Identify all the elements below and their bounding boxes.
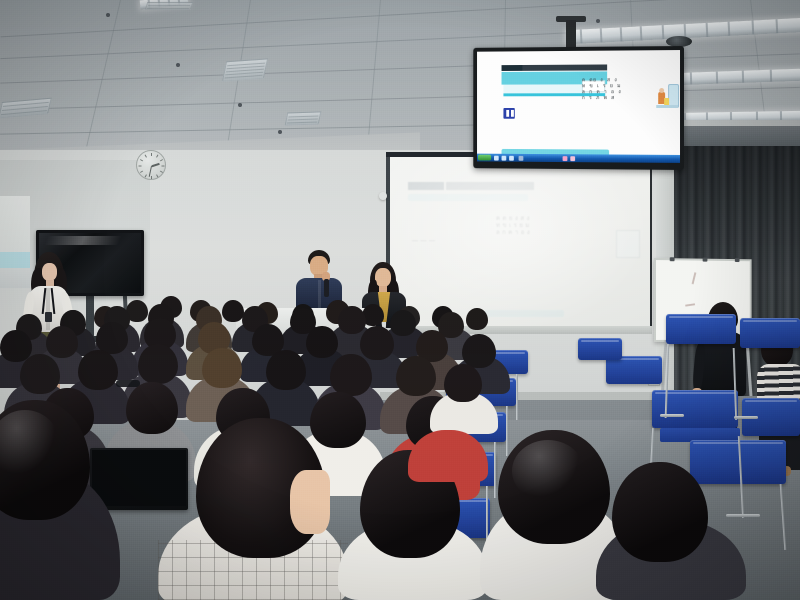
chair[interactable] bbox=[578, 338, 622, 360]
audience-head bbox=[202, 348, 242, 388]
lanyard-badge bbox=[45, 312, 52, 322]
microphone bbox=[324, 279, 329, 297]
illustration bbox=[656, 84, 680, 114]
audience-head bbox=[126, 382, 178, 434]
photo-canvas: — — — ค ด ย ง ส ง ท ข เ ร ย ม ล ก ค า อ … bbox=[0, 0, 800, 600]
air-diffuser-grille bbox=[0, 98, 52, 119]
audience-head bbox=[462, 334, 496, 368]
air-diffuser-grille bbox=[285, 111, 322, 125]
audience-head bbox=[330, 354, 372, 396]
windows-taskbar[interactable] bbox=[477, 154, 680, 163]
sprinkler-head bbox=[238, 103, 242, 107]
laptop-screen bbox=[92, 450, 186, 506]
audience-head bbox=[612, 462, 708, 562]
television-screen[interactable]: ค ดย ง ส ง ท ข เ ร ย ม ล ก ค า อ ง ก ร ภ… bbox=[477, 50, 680, 163]
projection-screen: — — — ค ด ย ง ส ง ท ข เ ร ย ม ล ก ค า อ … bbox=[386, 152, 652, 334]
chair[interactable] bbox=[606, 356, 662, 384]
wall-mounted-television[interactable]: ค ดย ง ส ง ท ข เ ร ย ม ล ก ค า อ ง ก ร ภ… bbox=[473, 46, 684, 170]
sprinkler-head bbox=[176, 63, 180, 67]
air-diffuser-grille bbox=[145, 2, 194, 10]
audience-head bbox=[338, 306, 366, 334]
audience-head bbox=[78, 350, 118, 390]
page-logo-block bbox=[502, 65, 523, 71]
screen-frame-knob bbox=[379, 192, 387, 200]
audience-head bbox=[466, 308, 488, 330]
projected-scribble-text: ค ด ย ง ส ง ท ข เ ร ย ม ล ก ค า อ ง bbox=[496, 216, 572, 237]
audience-head bbox=[138, 344, 178, 384]
start-button[interactable] bbox=[478, 155, 491, 161]
audience-head bbox=[266, 350, 306, 390]
audience-head bbox=[222, 300, 244, 322]
audience-head bbox=[306, 326, 338, 358]
tv-mount-arm bbox=[566, 20, 576, 48]
audience-head bbox=[310, 392, 366, 448]
television-glare bbox=[44, 236, 122, 245]
chair[interactable] bbox=[666, 314, 736, 344]
air-diffuser-grille bbox=[222, 58, 268, 81]
audience-head bbox=[46, 326, 78, 358]
audience-head bbox=[20, 354, 60, 394]
audience-head bbox=[360, 326, 394, 360]
wall-clock bbox=[136, 150, 166, 180]
audience-head bbox=[396, 356, 436, 396]
audience-head bbox=[390, 310, 416, 336]
tv-scribble-text: ค ดย ง ส ง ท ข เ ร ย ม ล ก ค า อ ง ก ร ภ… bbox=[582, 78, 650, 122]
sprinkler-head bbox=[106, 13, 110, 17]
ear-neck bbox=[290, 470, 330, 534]
chair[interactable] bbox=[740, 318, 800, 348]
sprinkler-head bbox=[278, 130, 282, 134]
projection-screen-surface: — — — ค ด ย ง ส ง ท ข เ ร ย ม ล ก ค า อ … bbox=[388, 154, 650, 332]
clock-hour-hand bbox=[152, 163, 160, 167]
sprinkler-head bbox=[596, 19, 600, 23]
audience-head bbox=[444, 364, 482, 402]
